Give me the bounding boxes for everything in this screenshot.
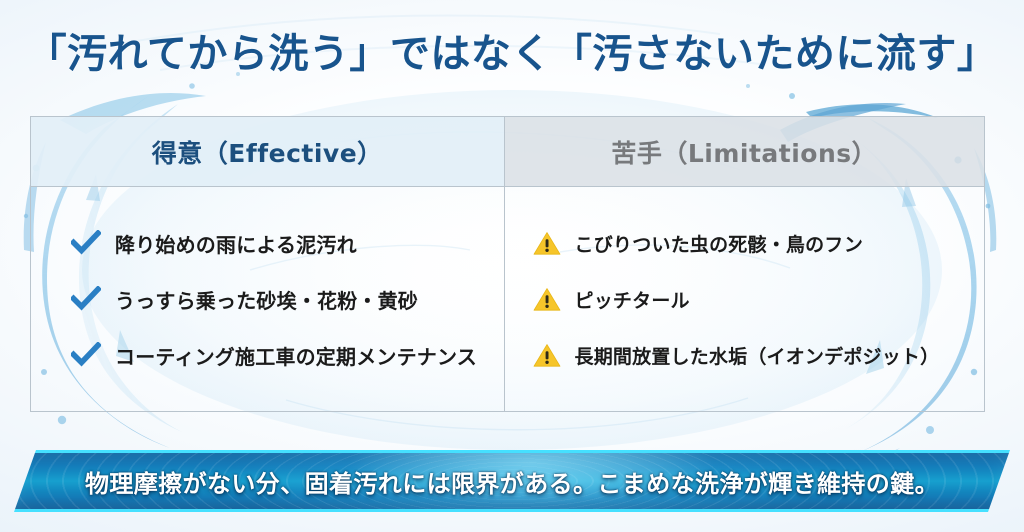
list-item: コーティング施工車の定期メンテナンス [71,340,504,370]
list-item-label: コーティング施工車の定期メンテナンス [115,341,477,370]
summary-banner-area: 物理摩擦がない分、固着汚れには限界がある。こまめな洗浄が輝き維持の鍵。 [0,448,1024,520]
table-header-limitations: 苦手（Limitations） [505,117,985,186]
list-item-label: うっすら乗った砂埃・花粉・黄砂 [115,285,418,314]
column-limitations: こびりついた虫の死骸・鳥のフン ピッチタール [505,187,984,411]
header-label-effective: 得意（Effective） [152,134,383,170]
summary-banner: 物理摩擦がない分、固着汚れには限界がある。こまめな洗浄が輝き維持の鍵。 [14,450,1010,512]
list-item: こびりついた虫の死骸・鳥のフン [533,228,984,258]
warning-icon [533,287,561,312]
list-item-label: 降り始めの雨による泥汚れ [115,229,357,258]
check-icon [71,230,101,256]
column-effective: 降り始めの雨による泥汚れ うっすら乗った砂埃・花粉・黄砂 [31,187,505,411]
slide-canvas: 「汚れてから洗う」ではなく「汚さないために流す」 得意（Effective） 苦… [0,0,1024,532]
header-label-limitations: 苦手（Limitations） [611,134,877,170]
comparison-table: 得意（Effective） 苦手（Limitations） 降り始めの雨による泥… [30,116,985,412]
list-item-label: 長期間放置した水垢（イオンデポジット） [575,342,940,369]
list-item: 長期間放置した水垢（イオンデポジット） [533,340,984,370]
warning-icon [533,343,561,368]
summary-banner-text: 物理摩擦がない分、固着汚れには限界がある。こまめな洗浄が輝き維持の鍵。 [85,464,939,499]
check-icon [71,286,101,312]
table-body: 降り始めの雨による泥汚れ うっすら乗った砂埃・花粉・黄砂 [31,187,984,411]
list-item: 降り始めの雨による泥汚れ [71,228,504,258]
list-item: ピッチタール [533,284,984,314]
warning-icon [533,231,561,256]
table-header-effective: 得意（Effective） [31,117,505,186]
check-icon [71,342,101,368]
slide-title-area: 「汚れてから洗う」ではなく「汚さないために流す」 [0,14,1024,86]
list-item: うっすら乗った砂埃・花粉・黄砂 [71,284,504,314]
page-title: 「汚れてから洗う」ではなく「汚さないために流す」 [27,21,998,79]
list-item-label: ピッチタール [575,286,690,313]
table-header-row: 得意（Effective） 苦手（Limitations） [31,117,984,187]
list-item-label: こびりついた虫の死骸・鳥のフン [575,230,864,257]
